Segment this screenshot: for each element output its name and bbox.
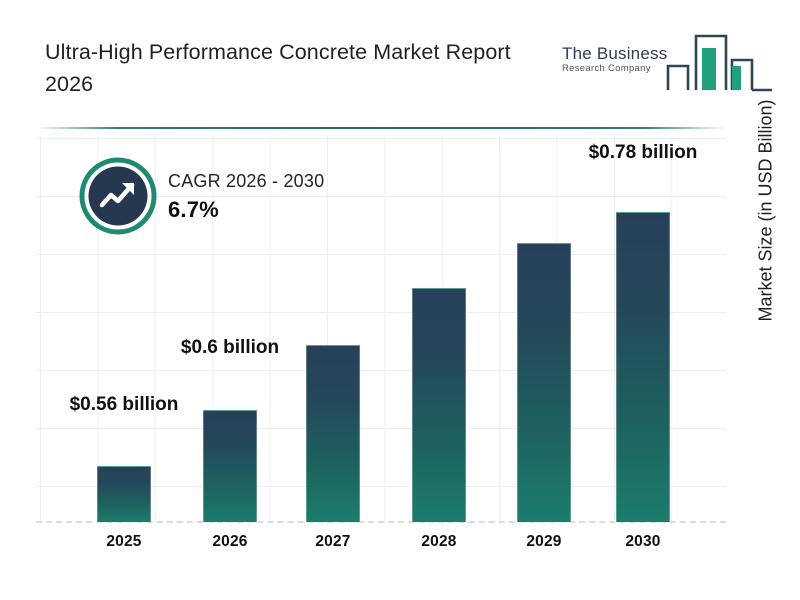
logo-line-1: The Business [562,44,682,63]
bar-2030[interactable] [616,212,670,522]
cagr-text-block: CAGR 2026 - 2030 6.7% [168,168,428,226]
bar-2026[interactable] [203,410,257,522]
header-divider [36,127,726,129]
bar-2028[interactable] [412,288,466,522]
bar-value-label-2026: $0.6 billion [174,335,286,361]
x-axis-label-2027: 2027 [288,533,378,551]
chart-page: Ultra-High Performance Concrete Market R… [0,0,800,600]
cagr-value-label: 6.7% [168,194,428,226]
bar-2027[interactable] [306,345,360,522]
x-axis-label-2025: 2025 [79,533,169,551]
bar-2025[interactable] [97,466,151,522]
x-axis-label-2029: 2029 [499,533,589,551]
bar-value-label-2025: $0.56 billion [68,392,180,418]
cagr-badge-icon [79,157,157,235]
x-axis-label-2026: 2026 [185,533,275,551]
x-axis-label-2028: 2028 [394,533,484,551]
logo-wordmark: The Business Research Company [562,44,682,75]
cagr-period-label: CAGR 2026 - 2030 [168,168,428,194]
bar-2029[interactable] [517,243,571,522]
y-axis-title: Market Size (in USD Billion) [756,61,777,361]
x-axis-label-2030: 2030 [598,533,688,551]
logo-line-2: Research Company [562,63,682,75]
page-title: Ultra-High Performance Concrete Market R… [45,36,565,100]
company-logo: The Business Research Company [562,30,777,102]
bar-value-label-2030: $0.78 billion [587,140,699,166]
